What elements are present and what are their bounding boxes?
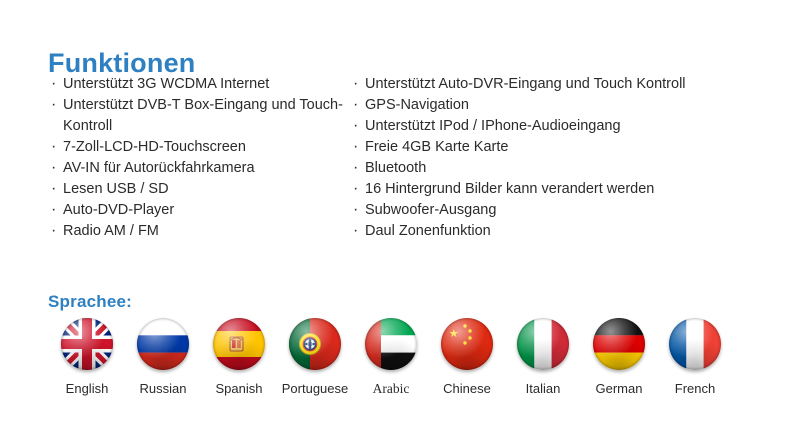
features-left-column: Unterstützt 3G WCDMA InternetUnterstützt… [50, 74, 350, 242]
feature-list-item: Bluetooth [352, 158, 772, 179]
features-columns: Unterstützt 3G WCDMA InternetUnterstützt… [0, 74, 800, 244]
feature-list-item: 16 Hintergrund Bilder kann verandert wer… [352, 179, 772, 200]
flag-spain-icon[interactable] [213, 318, 265, 370]
language-flag-item[interactable]: Russian [126, 318, 200, 396]
flag-united-kingdom-icon[interactable] [61, 318, 113, 370]
feature-list-item: Daul Zonenfunktion [352, 221, 772, 242]
language-flag-label: Russian [140, 381, 187, 396]
flag-russia-icon[interactable] [137, 318, 189, 370]
language-flag-label: French [675, 381, 715, 396]
features-right-column: Unterstützt Auto-DVR-Eingang und Touch K… [352, 74, 772, 242]
language-flag-label: Chinese [443, 381, 491, 396]
language-flag-item[interactable]: Chinese [430, 318, 504, 396]
language-flag-label: Portuguese [282, 381, 349, 396]
language-flag-item[interactable]: Arabic [354, 318, 428, 396]
feature-list-item: AV-IN für Autorückfahrkamera [50, 158, 350, 179]
feature-list-item: 7-Zoll-LCD-HD-Touchscreen [50, 137, 350, 158]
product-feature-panel: Funktionen Unterstützt 3G WCDMA Internet… [0, 0, 800, 422]
feature-list-item: Unterstützt IPod / IPhone-Audioeingang [352, 116, 772, 137]
language-flag-label: German [596, 381, 643, 396]
feature-list-item: Radio AM / FM [50, 221, 350, 242]
feature-list-item: Freie 4GB Karte Karte [352, 137, 772, 158]
feature-list-item: GPS-Navigation [352, 95, 772, 116]
feature-list-item: Unterstützt 3G WCDMA Internet [50, 74, 350, 95]
feature-list-item: Subwoofer-Ausgang [352, 200, 772, 221]
flag-portugal-icon[interactable] [289, 318, 341, 370]
languages-section-title: Sprachee: [48, 292, 132, 312]
flag-united-arab-emirates-icon[interactable] [365, 318, 417, 370]
language-flag-item[interactable]: Italian [506, 318, 580, 396]
flag-france-icon[interactable] [669, 318, 721, 370]
language-flag-label: Spanish [216, 381, 263, 396]
flag-germany-icon[interactable] [593, 318, 645, 370]
feature-list-item: Lesen USB / SD [50, 179, 350, 200]
language-flag-item[interactable]: French [658, 318, 732, 396]
language-flag-item[interactable]: Portuguese [278, 318, 352, 396]
flag-china-icon[interactable] [441, 318, 493, 370]
language-flags-row: EnglishRussianSpanishPortugueseArabicChi… [50, 318, 750, 404]
features-right-list: Unterstützt Auto-DVR-Eingang und Touch K… [352, 74, 772, 242]
language-flag-item[interactable]: English [50, 318, 124, 396]
features-left-list: Unterstützt 3G WCDMA InternetUnterstützt… [50, 74, 350, 242]
language-flag-label: Arabic [373, 381, 410, 396]
language-flag-item[interactable]: Spanish [202, 318, 276, 396]
language-flag-item[interactable]: German [582, 318, 656, 396]
feature-list-item: Unterstützt Auto-DVR-Eingang und Touch K… [352, 74, 772, 95]
feature-list-item: Unterstützt DVB-T Box-Eingang und Touch-… [50, 95, 350, 137]
feature-list-item: Auto-DVD-Player [50, 200, 350, 221]
flag-italy-icon[interactable] [517, 318, 569, 370]
language-flag-label: Italian [526, 381, 561, 396]
language-flag-label: English [66, 381, 109, 396]
